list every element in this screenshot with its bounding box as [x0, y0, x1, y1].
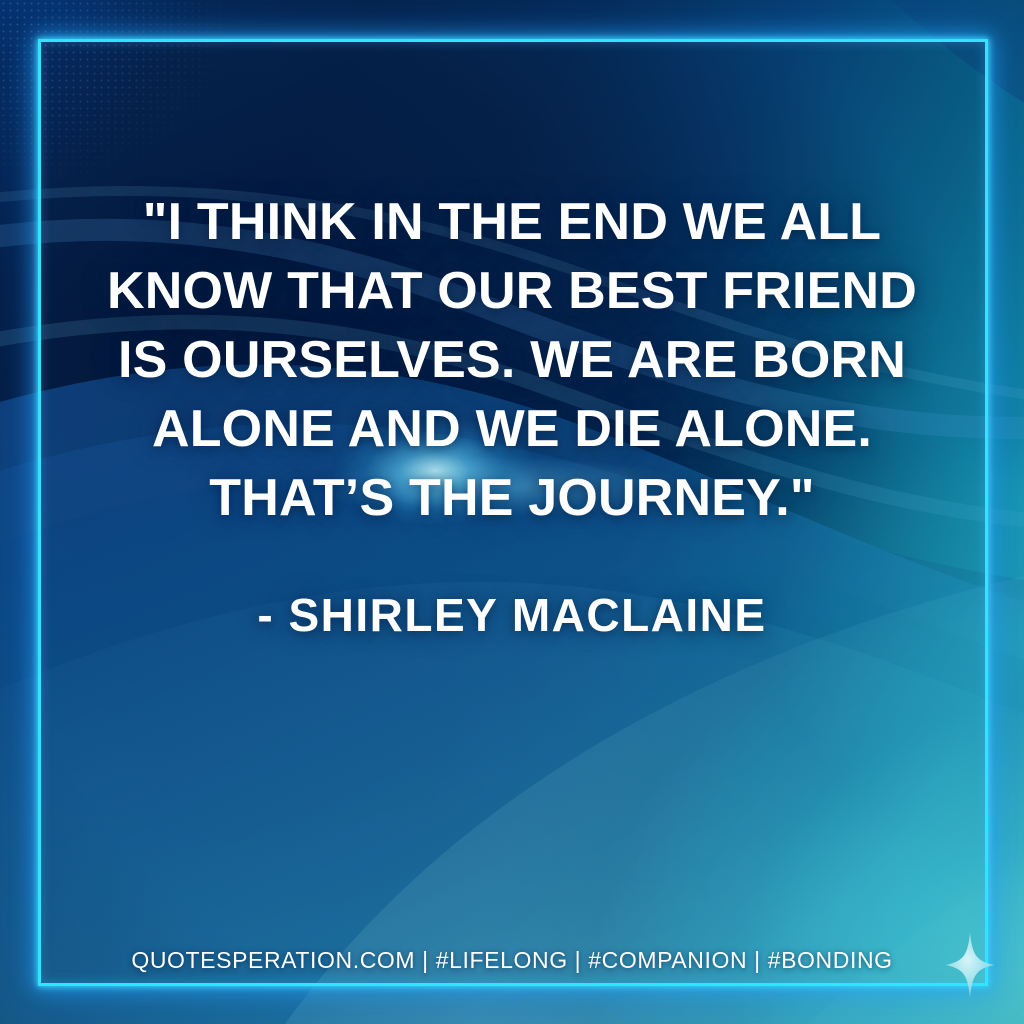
quote-text-block: "I THINK IN THE END WE ALL KNOW THAT OUR…	[0, 188, 1024, 533]
quote-line-4: ALONE AND WE DIE ALONE.	[70, 395, 954, 464]
quote-line-5: THAT’S THE JOURNEY."	[70, 464, 954, 533]
sparkle-star-icon	[944, 930, 996, 1000]
card-content: "I THINK IN THE END WE ALL KNOW THAT OUR…	[0, 0, 1024, 1024]
quote-card: "I THINK IN THE END WE ALL KNOW THAT OUR…	[0, 0, 1024, 1024]
footer-credit-text: QUOTESPERATION.COM | #LIFELONG | #COMPAN…	[131, 947, 892, 974]
quote-line-1: "I THINK IN THE END WE ALL	[70, 188, 954, 257]
quote-attribution: - SHIRLEY MACLAINE	[0, 588, 1024, 642]
quote-line-3: IS OURSELVES. WE ARE BORN	[70, 326, 954, 395]
footer-bar: QUOTESPERATION.COM | #LIFELONG | #COMPAN…	[0, 938, 1024, 982]
quote-line-2: KNOW THAT OUR BEST FRIEND	[70, 257, 954, 326]
